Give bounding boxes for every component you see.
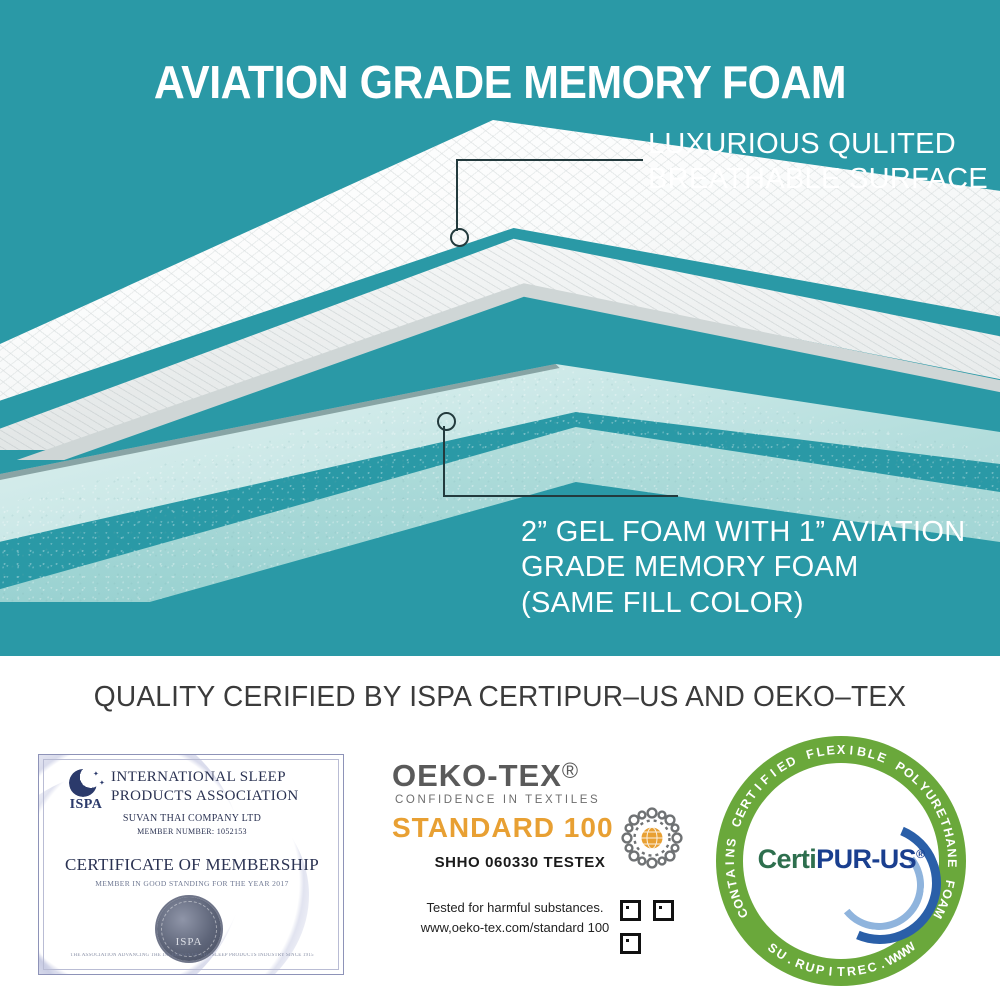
certipur-wordmark-certi: Certi	[758, 844, 817, 874]
page-title: AVIATION GRADE MEMORY FOAM	[35, 59, 965, 105]
ispa-logo: ✦ ✦ ISPA	[63, 769, 109, 811]
star-icon: ✦	[99, 780, 105, 787]
foam-callout-line-1: 2” GEL FOAM WITH 1” AVIATION	[521, 515, 966, 550]
certipur-arc-character: X	[837, 743, 845, 757]
certipur-wordmark-us: -US	[871, 844, 916, 874]
foam-callout-text: 2” GEL FOAM WITH 1” AVIATION GRADE MEMOR…	[521, 515, 966, 621]
oeko-tex-flower-icon	[620, 806, 684, 870]
ispa-certificate: ✦ ✦ ISPA INTERNATIONAL SLEEP PRODUCTS AS…	[38, 754, 344, 975]
registered-mark-icon: ®	[562, 758, 579, 783]
certifications-heading: QUALITY CERIFIED BY ISPA CERTIPUR–US AND…	[15, 681, 985, 714]
certipur-wordmark: CertiPUR-US®	[716, 844, 966, 875]
certipur-arc-character: E	[826, 743, 836, 758]
oeko-tex-badge: OEKO-TEX® CONFIDENCE IN TEXTILES STANDAR…	[392, 758, 682, 976]
qr-finder-pattern	[620, 900, 641, 921]
qr-finder-pattern	[653, 900, 674, 921]
certipur-arc-character: N	[944, 848, 959, 858]
registered-mark-icon: ®	[916, 847, 924, 861]
leader-vertical-line	[443, 426, 445, 497]
certipur-wordmark-pur: PUR	[816, 844, 871, 874]
certipur-us-badge: CertiPUR-US® CONTAINS CERTIFIED FLEXIBLE…	[716, 736, 966, 986]
ispa-certificate-footer: THE ASSOCIATION ADVANCING THE INTERESTS …	[39, 953, 344, 958]
leader-endpoint-dot	[450, 228, 469, 247]
certipur-arc-character: I	[723, 861, 737, 865]
oeko-tex-note-line-2: www,oeko-tex.com/standard 100	[400, 918, 630, 938]
certipur-arc-character: N	[723, 848, 738, 858]
ispa-certificate-subtitle: MEMBER IN GOOD STANDING FOR THE YEAR 201…	[39, 879, 344, 888]
leader-endpoint-dot	[437, 412, 456, 431]
ispa-seal-text: ISPA	[157, 936, 221, 948]
foam-callout-line-2: GRADE MEMORY FOAM	[521, 550, 966, 585]
oeko-tex-title-text: OEKO-TEX	[392, 758, 562, 793]
oeko-tex-tagline: CONFIDENCE IN TEXTILES	[395, 794, 600, 806]
ispa-company-name: SUVAN THAI COMPANY LTD	[39, 813, 344, 824]
ispa-certificate-title: CERTIFICATE OF MEMBERSHIP	[39, 855, 344, 875]
ispa-org-line-2: PRODUCTS ASSOCIATION	[111, 788, 299, 805]
certipur-arc-character: E	[945, 859, 959, 868]
cover-callout-text: LUXURIOUS QULITED BREATHABLE SURFACE	[648, 127, 988, 198]
oeko-tex-note: Tested for harmful substances. www,oeko-…	[400, 898, 630, 937]
ispa-logo-text: ISPA	[63, 797, 109, 813]
leader-vertical-line	[456, 159, 458, 231]
foam-callout-leader	[437, 412, 687, 507]
certipur-arc-character: T	[837, 965, 845, 979]
hero-section: AVIATION GRADE MEMORY FOAM LUXURIOUS QUL…	[0, 0, 1000, 656]
oeko-tex-title: OEKO-TEX®	[392, 758, 579, 794]
leader-horizontal-line	[457, 159, 643, 161]
oeko-tex-standard: STANDARD 100	[392, 812, 614, 844]
leader-horizontal-line	[443, 495, 678, 497]
qr-finder-pattern	[620, 933, 641, 954]
foam-callout-line-3: (SAME FILL COLOR)	[521, 586, 966, 621]
cover-callout-line-2: BREATHABLE SURFACE	[648, 162, 988, 197]
oeko-tex-qr-code	[620, 900, 674, 954]
cover-callout-leader	[450, 155, 650, 250]
ispa-org-line-1: INTERNATIONAL SLEEP	[111, 769, 286, 786]
certipur-arc-character: A	[723, 868, 738, 879]
star-icon: ✦	[93, 771, 99, 778]
certipur-arc-character: R	[846, 964, 856, 979]
cover-callout-line-1: LUXURIOUS QULITED	[648, 127, 988, 162]
ispa-member-number: MEMBER NUMBER: 1052153	[39, 827, 344, 836]
oeko-tex-certificate-code: SHHO 060330 TESTEX	[410, 854, 630, 871]
ispa-seal-icon: ISPA	[157, 897, 221, 961]
oeko-tex-note-line-1: Tested for harmful substances.	[400, 898, 630, 918]
product-infographic: AVIATION GRADE MEMORY FOAM LUXURIOUS QUL…	[0, 0, 1000, 1000]
